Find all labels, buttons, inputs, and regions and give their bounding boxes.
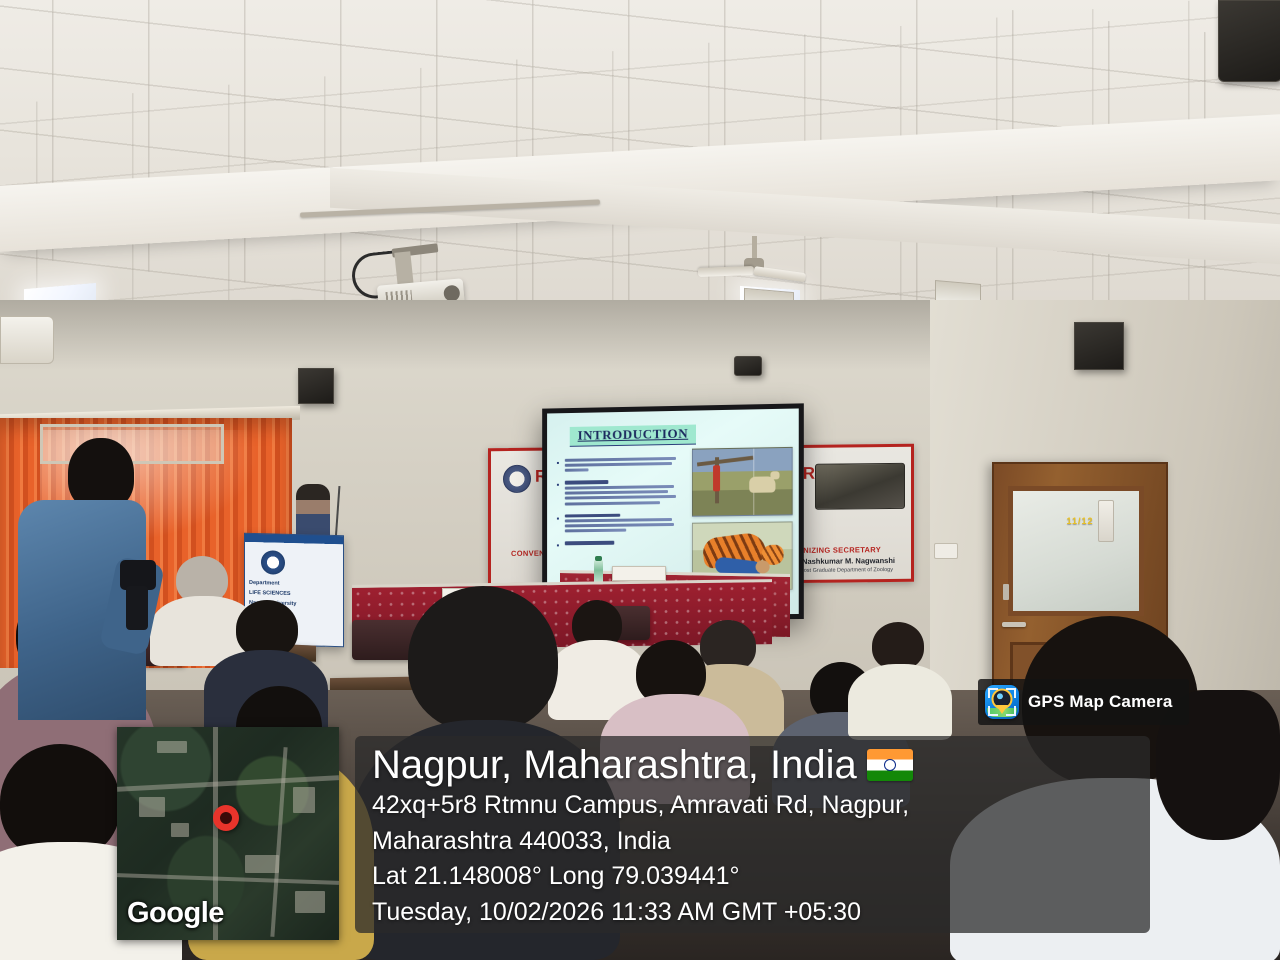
wall-switch-plate[interactable] <box>1098 500 1114 542</box>
slide-title: INTRODUCTION <box>570 425 696 447</box>
slide-bullet-4 <box>557 540 676 545</box>
podium-text-line1: Department <box>249 580 280 587</box>
slide-bullet-1 <box>557 457 676 472</box>
slide-bullet-list <box>557 457 676 554</box>
audience-head-6 <box>872 622 924 670</box>
projector-mount-post <box>394 251 413 286</box>
audience-head-cap-foreground <box>408 586 558 732</box>
location-place-label: Nagpur, Maharashtra, India <box>372 744 857 786</box>
gps-map-camera-watermark-badge: GPS Map Camera <box>978 679 1189 725</box>
air-conditioner-unit <box>0 316 54 364</box>
banner-building-photo <box>815 463 905 510</box>
address-line-2: Maharashtra 440033, India <box>372 826 1142 858</box>
ceiling-fan-back <box>706 236 802 286</box>
wall-power-socket[interactable] <box>934 543 958 559</box>
india-flag-icon <box>867 749 913 781</box>
app-name-label: GPS Map Camera <box>1028 692 1173 712</box>
ceiling-speaker-corner <box>1218 0 1280 82</box>
door-room-number: 11/12 <box>994 516 1166 526</box>
banner-orgsec-dept: Post Graduate Department of Zoology <box>800 567 893 574</box>
door-hinge-upper <box>1003 584 1009 600</box>
gps-map-camera-photo: RASHT PUR CONVENER ORGANIZING SECRETARY … <box>0 0 1280 960</box>
wall-speaker-right <box>1074 322 1124 370</box>
window-frame <box>40 424 224 464</box>
map-thumbnail[interactable]: Google <box>117 727 339 940</box>
banner-orgsec-name: Nashkumar M. Nagwanshi <box>802 556 895 566</box>
slide-image-livestock <box>692 447 793 517</box>
university-seal-icon <box>503 465 531 493</box>
podium-text-line2: LIFE SCIENCES <box>249 590 291 597</box>
address-line-1: 42xq+5r8 Rtmnu Campus, Amravati Rd, Nagp… <box>372 790 1142 822</box>
datetime-line: Tuesday, 10/02/2026 11:33 AM GMT +05:30 <box>372 897 1142 929</box>
door-handle[interactable] <box>1002 622 1026 627</box>
location-place-line: Nagpur, Maharashtra, India <box>372 744 1142 786</box>
slide-bullet-2 <box>557 479 676 505</box>
podium-university-emblem-icon <box>261 550 285 575</box>
audience-shoulders-6 <box>848 664 952 740</box>
door-glass-panel <box>1008 486 1144 616</box>
coordinates-line: Lat 21.148008° Long 79.039441° <box>372 861 1142 893</box>
dslr-camera <box>120 560 156 590</box>
slide-bullet-3 <box>557 512 676 532</box>
wall-speaker-left <box>298 368 334 404</box>
wall-camera-mount <box>734 356 762 376</box>
google-watermark: Google <box>127 897 224 930</box>
gps-map-camera-app-icon <box>985 685 1019 719</box>
table-nameplate-1 <box>612 566 666 581</box>
gps-overlay-text: Nagpur, Maharashtra, India 42xq+5r8 Rtmn… <box>372 744 1142 928</box>
